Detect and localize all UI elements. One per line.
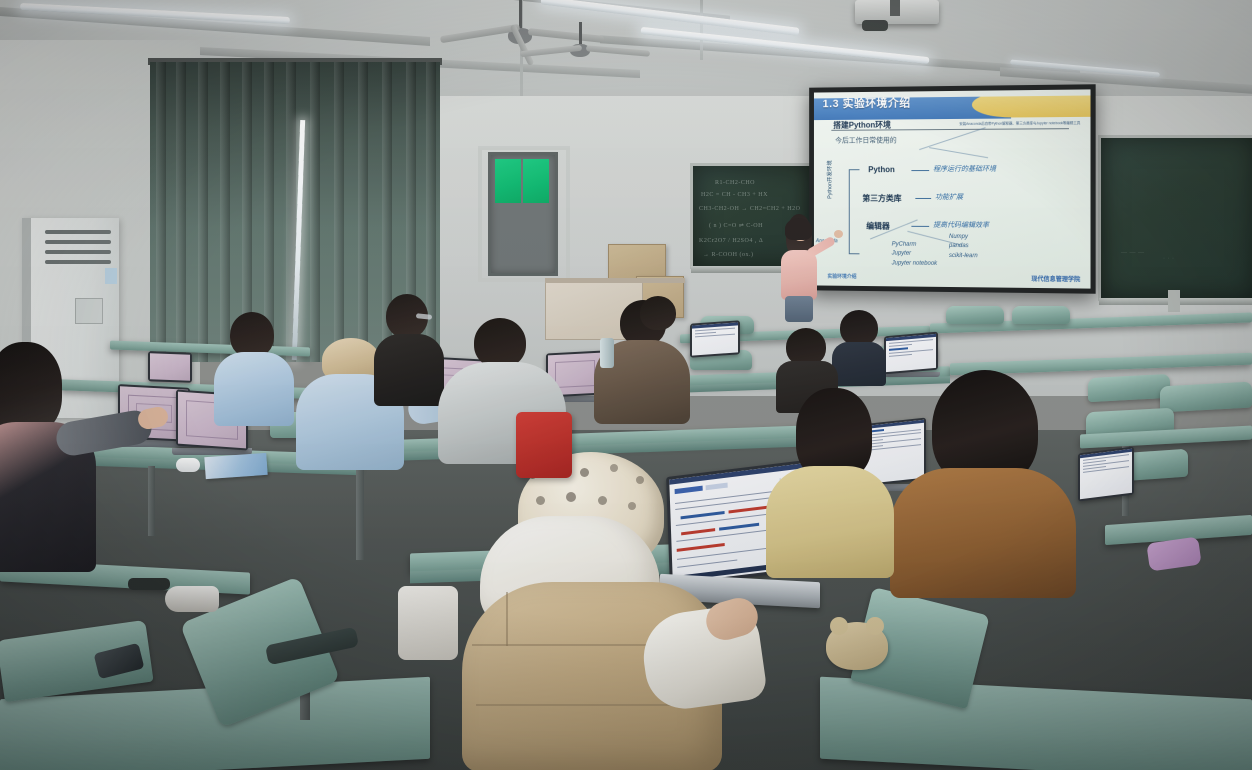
student-camel	[932, 370, 1076, 598]
mindmap-branch-desc: 提高代码编辑效率	[933, 220, 989, 230]
student-glasses	[386, 294, 444, 406]
notebook-book[interactable]	[204, 453, 267, 479]
projector-lens	[862, 20, 888, 31]
projection-screen: 1.3 实验环境介绍 搭建Python环境 今后工作日常使用的 安装Anacon…	[809, 84, 1096, 294]
white-bag[interactable]	[398, 586, 458, 660]
chair-row4	[946, 306, 1004, 324]
mindmap-connector	[915, 198, 931, 199]
door-glass-pane	[523, 159, 549, 203]
slide-header-accent	[972, 95, 1090, 117]
mindmap-branch-label: 第三方类库	[862, 193, 901, 204]
mindmap-branch-desc: 功能扩展	[935, 192, 963, 202]
slide-footer-right: 现代信息管理学院	[1031, 274, 1080, 284]
mindmap-diagonal	[929, 147, 988, 158]
mindmap-connector	[911, 170, 929, 171]
student-blue-hood	[230, 312, 294, 426]
projector-mount	[890, 0, 900, 16]
cardboard-box	[608, 244, 666, 280]
ac-badge	[105, 268, 117, 284]
instructor-hair-front	[785, 218, 812, 240]
student-navy	[840, 310, 886, 386]
slide-vertical-label: Python开发环境	[826, 160, 834, 199]
mindmap-branch-label: Python	[868, 165, 895, 174]
mindmap-leaf-group-libraries: Numpy pandas scikit-learn	[949, 233, 978, 261]
ceiling-panel-divider	[700, 0, 703, 60]
slide-title: 1.3 实验环境介绍	[823, 94, 911, 111]
mindmap-branch-label: 编辑器	[866, 221, 889, 232]
student-left-pink	[0, 342, 96, 572]
computer-mouse[interactable]	[176, 458, 200, 472]
instructor-torso	[781, 250, 817, 300]
instructor-hand	[834, 230, 843, 238]
mindmap-branch-desc: 程序运行的基础环境	[933, 164, 996, 174]
laptop	[148, 352, 192, 382]
instructor	[772, 214, 828, 322]
mindmap-connector	[911, 226, 929, 227]
podium-edge	[545, 278, 685, 283]
chalk-tray-holder	[1168, 290, 1180, 312]
instructor-legs	[785, 296, 813, 322]
slide-footer-left: 实验环境介绍	[827, 273, 856, 280]
blackboard-right: — — — · · ·	[1098, 135, 1252, 301]
ac-display-panel	[75, 298, 103, 324]
classroom-door[interactable]	[488, 152, 558, 276]
presentation-slide: 1.3 实验环境介绍 搭建Python环境 今后工作日常使用的 安装Anacon…	[814, 89, 1091, 288]
mindmap-leaf-group-editors: PyCharm Jupyter Jupyter notebook	[892, 241, 937, 269]
slide-note-text: 安装Anaconda后自带Python解释器、第三方类库与Jupyter not…	[949, 120, 1080, 128]
water-bottle[interactable]	[600, 338, 614, 368]
student-yellow	[796, 388, 894, 578]
desk-leg	[148, 466, 155, 536]
student-back-center	[640, 296, 676, 330]
door-glass-pane	[495, 159, 521, 203]
desk-leg	[356, 470, 364, 560]
laptop	[690, 322, 740, 356]
chair-row3	[1160, 382, 1252, 413]
slide-subtitle-secondary: 今后工作日常使用的	[835, 135, 896, 145]
ceiling-fan-rod	[519, 0, 522, 30]
thermos-cap	[128, 578, 170, 590]
shoe	[165, 586, 219, 612]
chair-row4	[1012, 306, 1070, 324]
classroom-photo: R1-CH2-CHO H2C = CH - CH3 + HX CH3-CH2-O…	[0, 0, 1252, 770]
mindmap-bracket	[849, 169, 860, 254]
laptop	[1078, 450, 1134, 498]
red-backpack[interactable]	[516, 412, 572, 478]
bear-charm	[826, 622, 888, 670]
chair-row3	[1088, 374, 1170, 402]
